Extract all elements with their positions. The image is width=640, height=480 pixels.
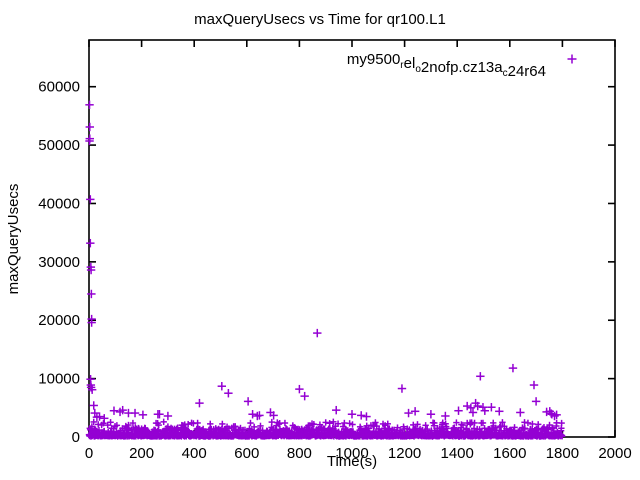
x-tick-label: 200 [129,445,154,462]
y-tick-label: 50000 [38,137,80,154]
y-tick-label: 0 [72,429,80,446]
chart-title: maxQueryUsecs vs Time for qr100.L1 [194,11,446,28]
gnuplot-figure: maxQueryUsecs vs Time for qr100.L1 01000… [0,0,640,480]
x-tick-label: 1800 [546,445,579,462]
chart-canvas: maxQueryUsecs vs Time for qr100.L1 01000… [0,0,640,480]
x-tick-label: 0 [85,445,93,462]
x-tick-label: 2000 [598,445,631,462]
y-tick-label: 40000 [38,195,80,212]
x-tick-label: 1600 [493,445,526,462]
baseline-dense-band [86,419,566,440]
y-tick-label: 20000 [38,312,80,329]
legend-text: my9500 [347,51,400,68]
y-axis-title: maxQueryUsecs [5,184,22,295]
x-tick-label: 600 [234,445,259,462]
x-axis-title: Time(s) [327,453,377,470]
legend-text: el [404,55,416,72]
y-tick-label: 10000 [38,371,80,388]
legend-text: 2nofp.cz13a [421,59,503,76]
x-tick-label: 1200 [388,445,421,462]
x-tick-label: 800 [287,445,312,462]
y-tick-label: 60000 [38,79,80,96]
x-tick-label: 400 [182,445,207,462]
legend-text: 24r64 [508,63,546,80]
x-tick-label: 1400 [441,445,474,462]
y-tick-label: 30000 [38,254,80,271]
